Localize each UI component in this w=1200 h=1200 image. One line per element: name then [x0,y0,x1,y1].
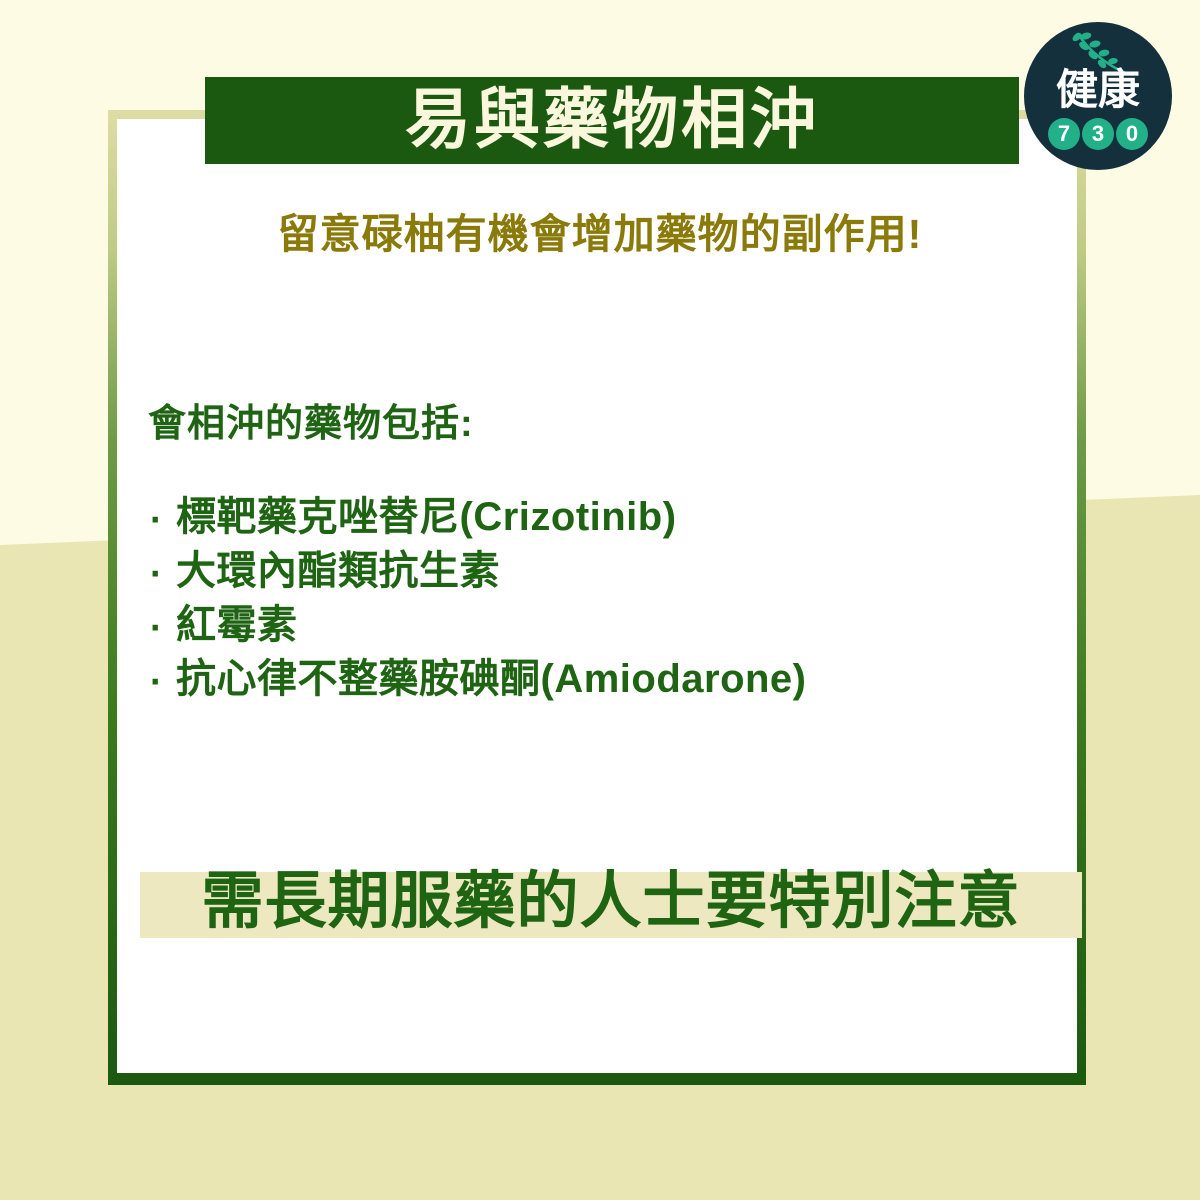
list-item: ‧ 大環內酯類抗生素 [150,546,807,600]
list-item-label: 大環內酯類抗生素 [176,546,500,596]
logo-digit-0: 0 [1116,118,1148,150]
list-item: ‧ 抗心律不整藥胺碘酮(Amiodarone) [150,654,807,708]
subtitle-text: 留意碌柚有機會增加藥物的副作用! [150,200,1050,260]
logo-number-pills: 7 3 0 [1024,118,1172,150]
logo-digit-3: 3 [1082,118,1114,150]
callout-text: 需長期服藥的人士要特別注意 [140,840,1082,950]
logo-wordmark: 健康 [1024,68,1172,112]
list-item: ‧ 紅霉素 [150,600,807,654]
logo-digit-7: 7 [1048,118,1080,150]
list-item-label: 標靶藥克唑替尼(Crizotinib) [176,492,677,542]
list-item-label: 紅霉素 [176,600,298,650]
bullet-icon: ‧ [150,550,176,600]
page-title: 易與藥物相沖 [405,86,819,152]
logo-circle: 健康 7 3 0 [1024,22,1172,170]
list-item-label: 抗心律不整藥胺碘酮(Amiodarone) [176,654,807,704]
drug-list-heading: 會相沖的藥物包括: [148,392,474,447]
bullet-icon: ‧ [150,604,176,654]
bullet-icon: ‧ [150,658,176,708]
drug-list: ‧ 標靶藥克唑替尼(Crizotinib) ‧ 大環內酯類抗生素 ‧ 紅霉素 ‧… [150,492,807,708]
poster-canvas: 易與藥物相沖 留意碌柚有機會增加藥物的副作用! 會相沖的藥物包括: ‧ 標靶藥克… [0,0,1200,1200]
brand-logo: 健康 7 3 0 [1024,22,1172,170]
list-item: ‧ 標靶藥克唑替尼(Crizotinib) [150,492,807,546]
title-banner: 易與藥物相沖 [205,77,1019,164]
bullet-icon: ‧ [150,496,176,546]
